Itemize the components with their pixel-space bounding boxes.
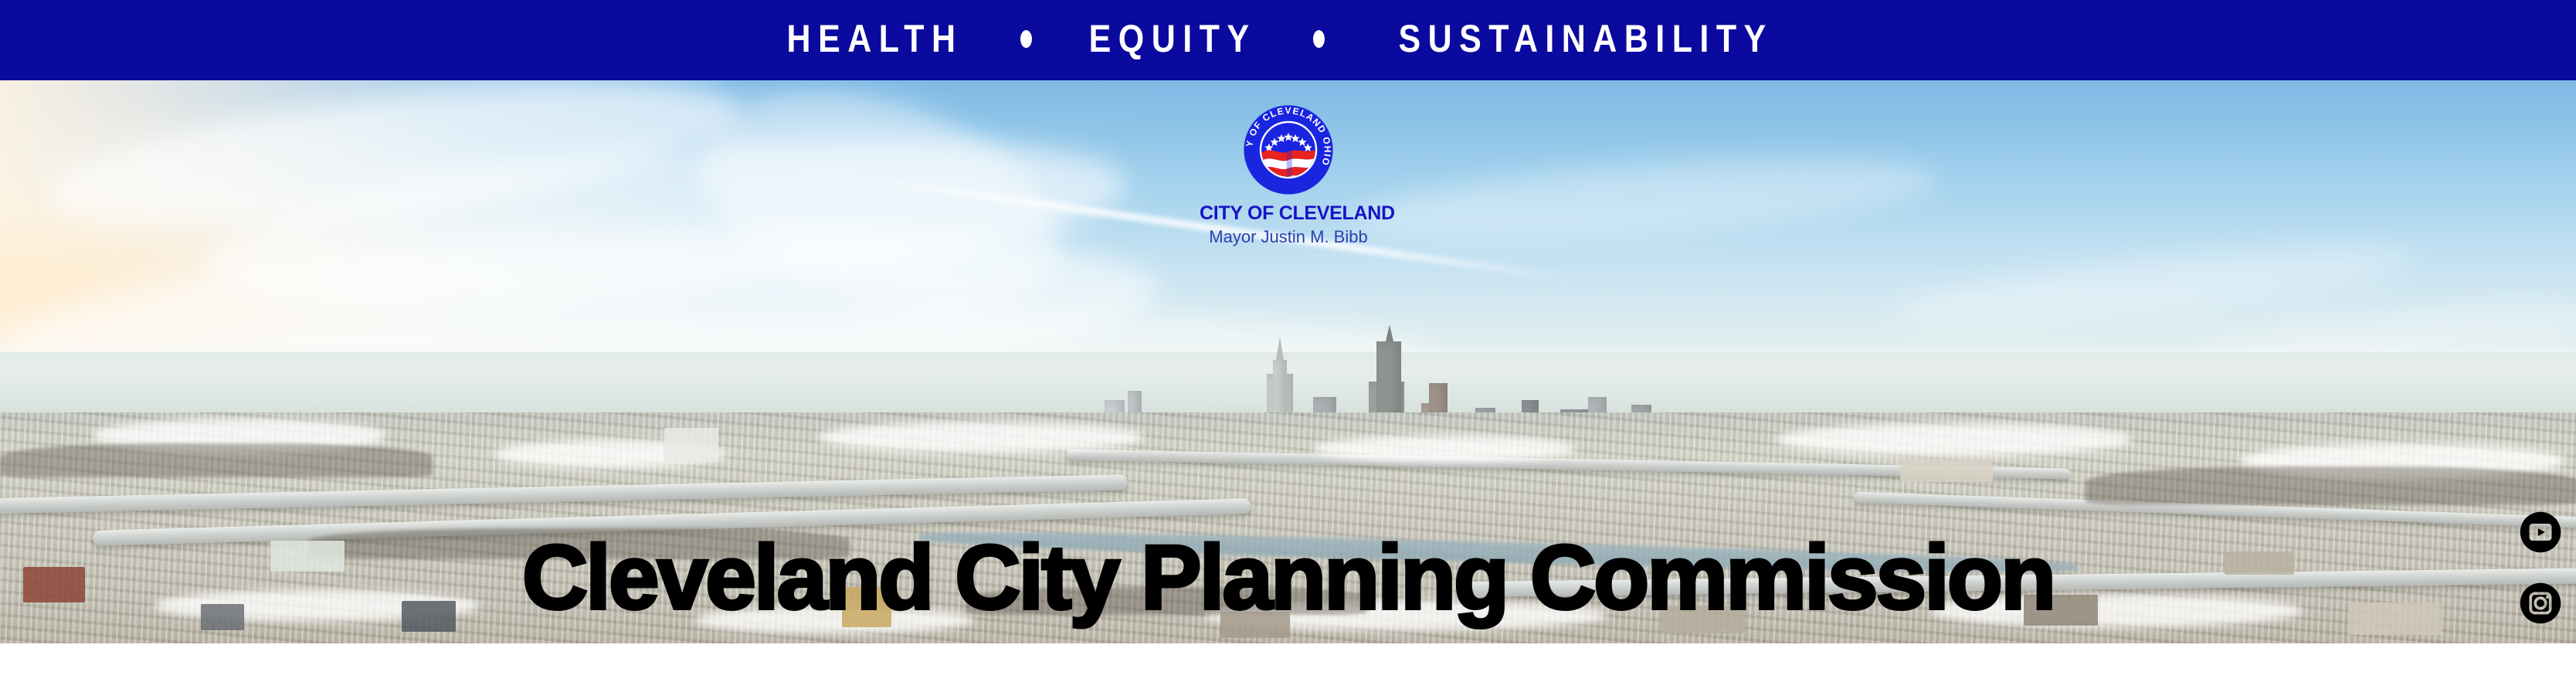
bullet-dot-icon bbox=[1020, 30, 1032, 48]
tagline-word-equity: EQUITY bbox=[1089, 19, 1257, 58]
treeline bbox=[2086, 467, 2576, 505]
logo-subtitle: Mayor Justin M. Bibb bbox=[1200, 229, 1377, 246]
instagram-icon bbox=[2518, 581, 2563, 626]
bottom-white-strip bbox=[0, 643, 2576, 682]
building-roof bbox=[1900, 459, 1993, 482]
hero-photo: CITY OF CLEVELAND OHIO bbox=[0, 80, 2576, 643]
tagline-word-health: HEALTH bbox=[786, 19, 962, 58]
snow-patch bbox=[1313, 436, 1576, 462]
youtube-link[interactable] bbox=[2518, 510, 2563, 555]
building-roof bbox=[664, 428, 718, 462]
page-root: HEALTH EQUITY SUSTAINABILITY bbox=[0, 0, 2576, 682]
tagline-banner: HEALTH EQUITY SUSTAINABILITY bbox=[0, 0, 2576, 80]
snow-patch bbox=[819, 422, 1143, 453]
key-tower-spire bbox=[1386, 324, 1393, 341]
tagline-inner: HEALTH EQUITY SUSTAINABILITY bbox=[772, 19, 1804, 58]
page-title: Cleveland City Planning Commission bbox=[0, 532, 2576, 623]
treeline bbox=[0, 443, 433, 477]
youtube-icon bbox=[2518, 510, 2563, 555]
snow-patch bbox=[1777, 423, 2132, 456]
social-icon-rail bbox=[2513, 510, 2568, 643]
bullet-dot-icon bbox=[1313, 30, 1325, 48]
logo-title: CITY OF CLEVELAND bbox=[1200, 204, 1377, 223]
city-logo-block[interactable]: CITY OF CLEVELAND OHIO bbox=[1200, 103, 1377, 246]
tagline-word-sustainability: SUSTAINABILITY bbox=[1398, 19, 1773, 58]
instagram-link[interactable] bbox=[2518, 581, 2563, 626]
terminal-tower-spire bbox=[1276, 337, 1284, 360]
city-seal-icon: CITY OF CLEVELAND OHIO bbox=[1242, 103, 1335, 196]
